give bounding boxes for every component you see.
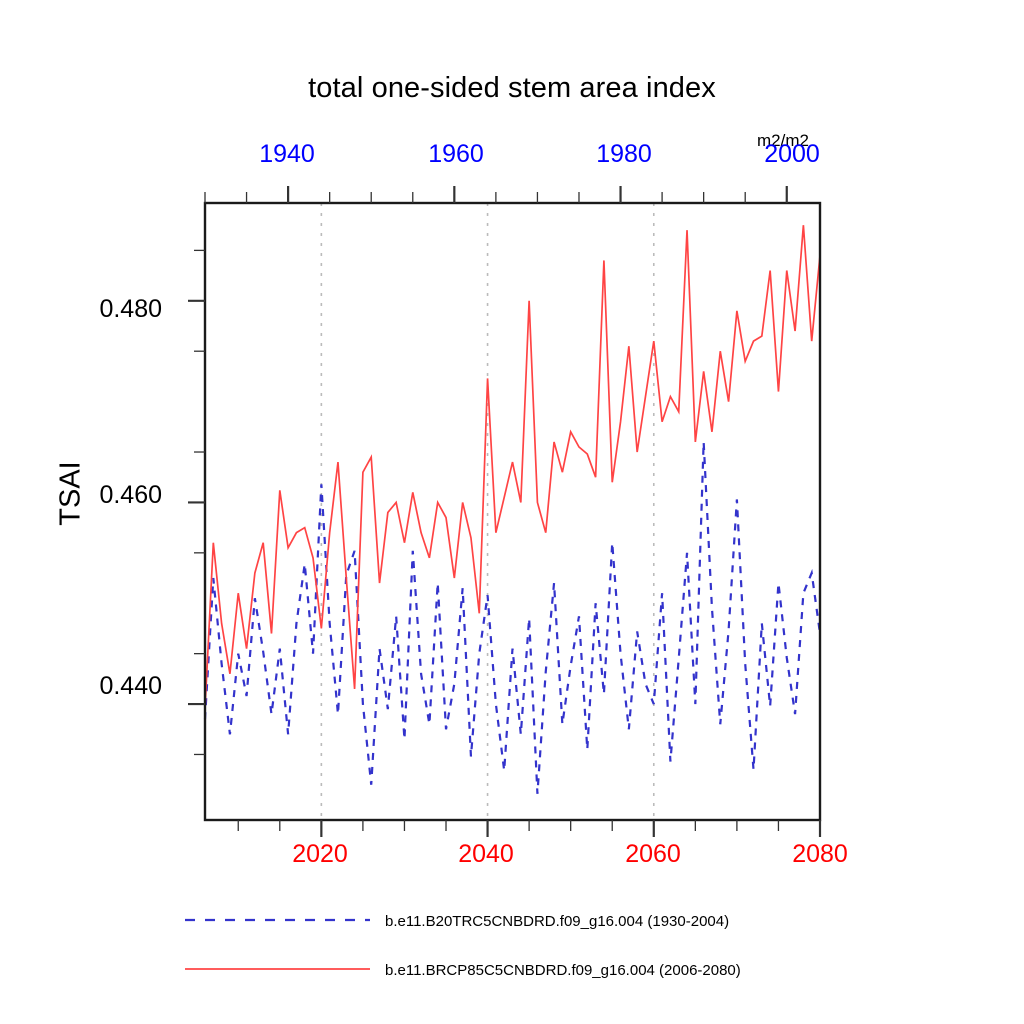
plot-area: [0, 0, 1024, 1024]
legend-label-2: b.e11.BRCP85C5CNBDRD.f09_g16.004 (2006-2…: [385, 962, 741, 979]
plot-frame: [205, 203, 820, 820]
legend-label-1: b.e11.B20TRC5CNBDRD.f09_g16.004 (1930-20…: [385, 913, 729, 930]
figure-canvas: total one-sided stem area index m2/m2 TS…: [0, 0, 1024, 1024]
data-series-1: [205, 442, 820, 794]
